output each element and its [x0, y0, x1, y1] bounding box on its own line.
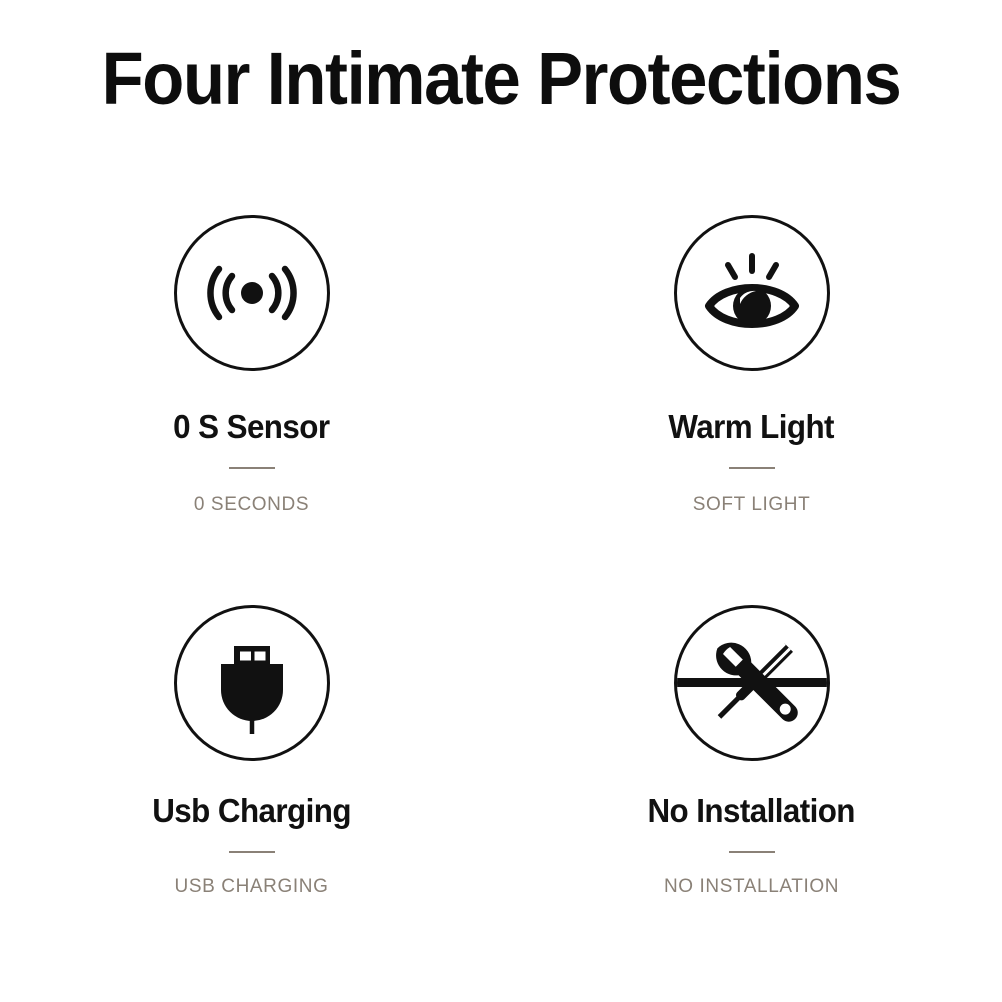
eye-icon — [674, 215, 830, 371]
feature-infographic: Four Intimate Protections 0 S Sensor 0 S… — [0, 0, 1002, 1002]
feature-title: Warm Light — [669, 407, 835, 447]
motion-sensor-icon — [174, 215, 330, 371]
title-divider — [729, 851, 775, 853]
feature-card-no-installation: No Installation NO INSTALLATION — [501, 605, 1002, 995]
feature-title: No Installation — [648, 791, 855, 831]
feature-subtitle: SOFT LIGHT — [693, 493, 811, 517]
feature-grid: 0 S Sensor 0 SECONDS Wa — [0, 215, 1002, 995]
feature-title: 0 S Sensor — [173, 407, 329, 447]
feature-card-sensor: 0 S Sensor 0 SECONDS — [0, 215, 501, 605]
feature-card-warm-light: Warm Light SOFT LIGHT — [501, 215, 1002, 605]
feature-subtitle: USB CHARGING — [175, 875, 329, 899]
tools-crossed-icon — [674, 605, 830, 761]
feature-subtitle: NO INSTALLATION — [664, 875, 839, 899]
feature-title: Usb Charging — [152, 791, 351, 831]
page-title: Four Intimate Protections — [35, 36, 967, 122]
title-divider — [229, 467, 275, 469]
feature-subtitle: 0 SECONDS — [194, 493, 309, 517]
feature-card-usb-charging: Usb Charging USB CHARGING — [0, 605, 501, 995]
title-divider — [229, 851, 275, 853]
title-divider — [729, 467, 775, 469]
usb-plug-icon — [174, 605, 330, 761]
